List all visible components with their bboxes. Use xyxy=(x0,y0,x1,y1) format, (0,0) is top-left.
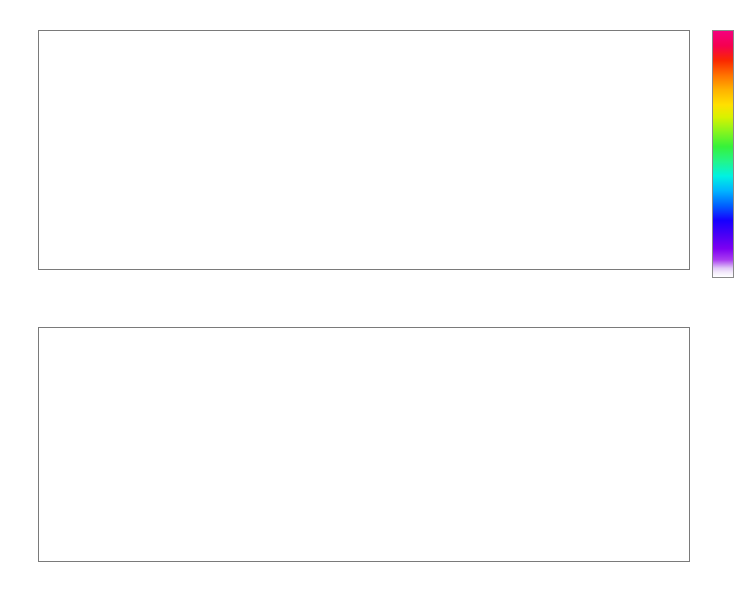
spectrogram-plot[interactable] xyxy=(38,30,690,270)
snr-plot[interactable] xyxy=(38,327,690,562)
colorbar[interactable] xyxy=(712,30,734,278)
colorbar-gradient xyxy=(712,30,734,278)
figure-root xyxy=(0,0,750,600)
spectrogram-canvas xyxy=(39,31,689,269)
snr-canvas xyxy=(39,328,689,561)
